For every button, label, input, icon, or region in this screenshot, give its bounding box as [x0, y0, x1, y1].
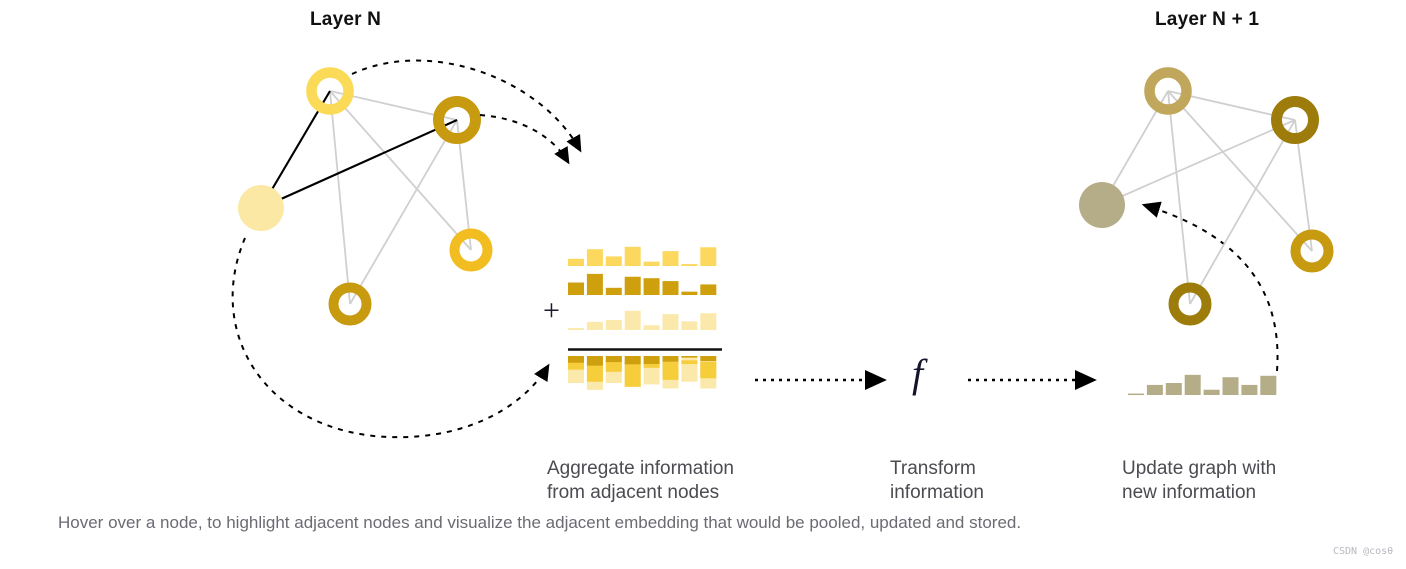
edge-n2-n3-highlight	[261, 120, 457, 208]
graph-right-nodes[interactable]	[1079, 73, 1329, 321]
bar-neighbor-embedding-3-3	[625, 311, 641, 330]
node-left-3-selected[interactable]	[238, 185, 284, 231]
bar-output-5	[1223, 377, 1239, 395]
bar-neighbor-embedding-2-7	[700, 284, 716, 295]
bar-neighbor-embedding-1-5	[663, 251, 679, 266]
edge-n2-n5	[350, 120, 457, 304]
bar-neighbor-embedding-1-4	[644, 262, 660, 266]
bar-neighbor-embedding-3-6	[681, 321, 697, 330]
bar-pooled-dark-6	[681, 356, 697, 358]
layer-title-right: Layer N + 1	[1155, 9, 1259, 31]
arrow-node2-to-pool	[480, 115, 568, 162]
caption-transform: Transform information	[890, 457, 984, 505]
function-f-symbol: f	[912, 354, 923, 394]
node-right-3-updated[interactable]	[1079, 182, 1125, 228]
bar-pooled-mid-5	[663, 362, 679, 380]
bar-neighbor-embedding-1-0	[568, 259, 584, 266]
bar-neighbor-embedding-2-5	[663, 281, 679, 295]
bar-pooled-mid-3	[625, 362, 641, 387]
bar-neighbor-embedding-2-6	[681, 292, 697, 295]
bar-neighbor-embedding-1-7	[700, 247, 716, 266]
bar-neighbor-embedding-2-3	[625, 277, 641, 295]
aggregate-arrows	[233, 61, 580, 438]
bar-neighbor-embedding-1-1	[587, 249, 603, 266]
bar-pooled-dark-3	[625, 356, 641, 364]
edge-m1-m5	[1168, 91, 1190, 304]
bar-output-0	[1128, 394, 1144, 396]
arrow-update-to-node	[1144, 205, 1278, 371]
edge-m1-m4	[1168, 91, 1312, 251]
diagram-stage: Layer N Layer N + 1 + f Aggregate inform…	[0, 0, 1406, 569]
bar-neighbor-embedding-1-6	[681, 264, 697, 266]
bar-neighbor-embedding-3-0	[568, 328, 584, 330]
plus-icon: +	[543, 296, 560, 326]
bar-output-4	[1204, 390, 1220, 395]
bar-neighbor-embedding-2-1	[587, 274, 603, 295]
bar-pooled-pale-6	[681, 356, 697, 382]
bar-neighbor-embedding-3-5	[663, 314, 679, 330]
bar-pooled-mid-2	[606, 361, 622, 372]
bar-neighbor-embedding-1-3	[625, 247, 641, 266]
watermark-text: CSDN @cosθ	[1333, 546, 1393, 557]
bar-output-3	[1185, 375, 1201, 395]
caption-aggregate: Aggregate information from adjacent node…	[547, 457, 734, 505]
bar-pooled-mid-7	[700, 362, 716, 378]
bar-output-6	[1241, 385, 1257, 395]
bar-output-7	[1260, 376, 1276, 395]
edge-m2-m5	[1190, 120, 1295, 304]
arrow-node3-to-pool	[233, 238, 548, 437]
bar-neighbor-embedding-1-2	[606, 256, 622, 266]
bar-neighbor-embedding-2-4	[644, 278, 660, 295]
hover-hint-text: Hover over a node, to highlight adjacent…	[58, 513, 1021, 533]
bar-pooled-dark-7	[700, 356, 716, 361]
bar-pooled-dark-0	[568, 356, 584, 363]
bar-neighbor-embedding-3-2	[606, 320, 622, 330]
caption-update: Update graph with new information	[1122, 457, 1276, 505]
edge-n1-n4	[330, 91, 471, 250]
bar-neighbor-embedding-2-2	[606, 288, 622, 295]
edge-n1-n5	[330, 91, 350, 304]
edge-m2-m3	[1102, 120, 1295, 205]
bar-output-2	[1166, 383, 1182, 395]
bar-pooled-dark-5	[663, 356, 679, 362]
bar-output-1	[1147, 385, 1163, 395]
layer-title-left: Layer N	[310, 9, 381, 31]
bar-pooled-mid-6	[681, 360, 697, 364]
bar-neighbor-embedding-3-7	[700, 313, 716, 330]
bar-pooled-dark-2	[606, 356, 622, 362]
bar-pooled-dark-4	[644, 356, 660, 364]
bar-neighbor-embedding-3-4	[644, 325, 660, 330]
bar-pooled-dark-1	[587, 356, 603, 366]
bar-neighbor-embedding-2-0	[568, 283, 584, 295]
bar-neighbor-embedding-3-1	[587, 322, 603, 330]
